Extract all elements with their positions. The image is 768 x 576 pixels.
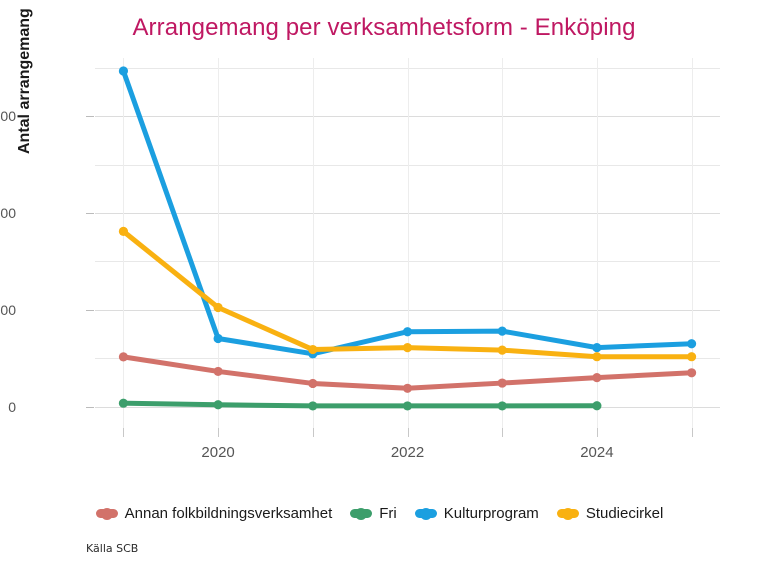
plot-area: 050010001500 202020222024 <box>95 58 720 428</box>
data-point[interactable] <box>119 66 128 75</box>
x-axis-tick-mark <box>408 428 409 437</box>
y-axis-tick-mark <box>86 407 94 408</box>
legend-item[interactable]: Studiecirkel <box>557 505 664 522</box>
series-layer <box>95 58 720 428</box>
legend-item[interactable]: Annan folkbildningsverksamhet <box>96 505 333 522</box>
x-axis-tick-mark <box>313 428 314 437</box>
source-note: Källa SCB <box>86 542 138 555</box>
x-axis-tick-label: 2024 <box>580 444 613 461</box>
data-point[interactable] <box>214 303 223 312</box>
data-point[interactable] <box>308 379 317 388</box>
chart-legend: Annan folkbildningsverksamhetFriKulturpr… <box>0 505 768 522</box>
data-point[interactable] <box>592 401 601 410</box>
data-point[interactable] <box>308 401 317 410</box>
x-axis-tick-label: 2022 <box>391 444 424 461</box>
legend-swatch-icon <box>96 509 118 518</box>
legend-item-label: Kulturprogram <box>444 505 539 522</box>
data-point[interactable] <box>592 343 601 352</box>
data-point[interactable] <box>498 327 507 336</box>
x-axis-tick-label: 2020 <box>201 444 234 461</box>
x-axis-tick-mark <box>597 428 598 437</box>
y-axis-tick-label: 1500 <box>0 108 16 124</box>
legend-swatch-icon <box>415 509 437 518</box>
y-axis-tick-mark <box>86 213 94 214</box>
data-point[interactable] <box>119 352 128 361</box>
x-axis-tick-mark <box>502 428 503 437</box>
series-line <box>123 403 596 406</box>
legend-item-label: Fri <box>379 505 397 522</box>
y-axis-tick-mark <box>86 310 94 311</box>
data-point[interactable] <box>403 343 412 352</box>
series-kulturprogram <box>119 66 696 358</box>
legend-item[interactable]: Kulturprogram <box>415 505 539 522</box>
series-line <box>123 71 691 354</box>
data-point[interactable] <box>498 378 507 387</box>
data-point[interactable] <box>308 345 317 354</box>
data-point[interactable] <box>687 368 696 377</box>
series-studiecirkel <box>119 227 696 362</box>
data-point[interactable] <box>403 327 412 336</box>
data-point[interactable] <box>687 352 696 361</box>
data-point[interactable] <box>498 346 507 355</box>
y-axis-tick-label: 0 <box>8 399 16 415</box>
data-point[interactable] <box>403 384 412 393</box>
data-point[interactable] <box>119 227 128 236</box>
data-point[interactable] <box>592 373 601 382</box>
data-point[interactable] <box>214 367 223 376</box>
y-axis-tick-mark <box>86 116 94 117</box>
legend-item-label: Annan folkbildningsverksamhet <box>125 505 333 522</box>
data-point[interactable] <box>498 401 507 410</box>
series-fri <box>119 399 602 411</box>
x-axis-tick-mark <box>123 428 124 437</box>
data-point[interactable] <box>214 400 223 409</box>
chart-title: Arrangemang per verksamhetsform - Enköpi… <box>0 14 768 42</box>
data-point[interactable] <box>119 399 128 408</box>
legend-swatch-icon <box>557 509 579 518</box>
x-axis-tick-mark <box>218 428 219 437</box>
legend-swatch-icon <box>350 509 372 518</box>
y-axis-tick-label: 500 <box>0 302 16 318</box>
y-axis-tick-label: 1000 <box>0 205 16 221</box>
legend-item[interactable]: Fri <box>350 505 397 522</box>
series-line <box>123 357 691 388</box>
data-point[interactable] <box>403 401 412 410</box>
legend-item-label: Studiecirkel <box>586 505 664 522</box>
data-point[interactable] <box>592 352 601 361</box>
data-point[interactable] <box>687 339 696 348</box>
y-axis-title: Antal arrangemang <box>16 128 34 154</box>
data-point[interactable] <box>214 334 223 343</box>
chart-container: Arrangemang per verksamhetsform - Enköpi… <box>0 0 768 576</box>
series-line <box>123 231 691 356</box>
x-axis-tick-mark <box>692 428 693 437</box>
